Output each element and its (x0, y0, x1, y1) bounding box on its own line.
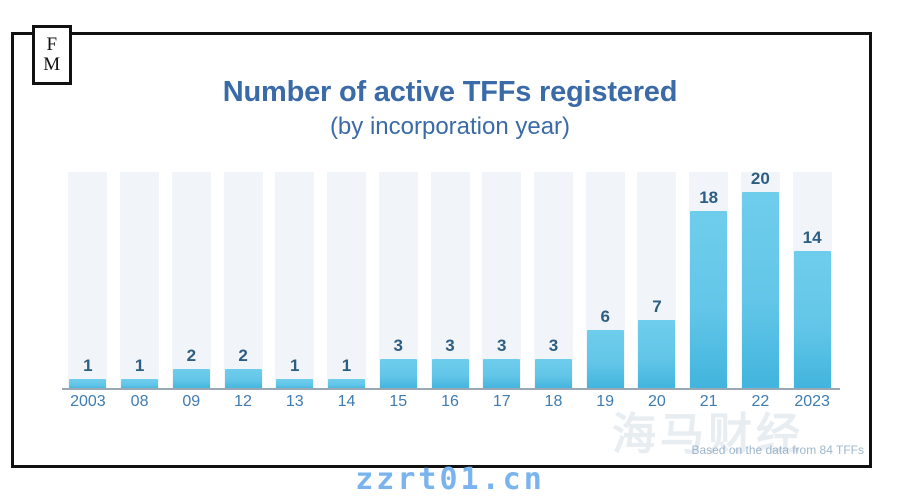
bar-19[interactable] (587, 330, 624, 389)
chart-subtitle: (by incorporation year) (0, 113, 900, 141)
bar-15[interactable] (380, 359, 417, 389)
bar-value-label: 3 (372, 336, 424, 356)
bar-value-label: 14 (786, 228, 838, 248)
x-axis-label: 09 (165, 393, 217, 411)
x-axis-label: 19 (579, 393, 631, 411)
bar-value-label: 1 (62, 356, 114, 376)
logo-letter-f: F (46, 35, 57, 55)
x-axis-label: 2023 (786, 393, 838, 411)
bar-value-label: 7 (631, 297, 683, 317)
x-axis-label: 13 (269, 393, 321, 411)
bar-value-label: 18 (683, 188, 735, 208)
bar-value-label: 20 (735, 169, 787, 189)
logo-letter-m: M (43, 55, 60, 75)
column-band (534, 172, 573, 389)
bar-value-label: 1 (321, 356, 373, 376)
bar-value-label: 2 (217, 346, 269, 366)
bar-21[interactable] (690, 211, 727, 389)
x-axis-label: 08 (114, 393, 166, 411)
bar-value-label: 6 (579, 307, 631, 327)
bar-09[interactable] (173, 369, 210, 389)
bar-17[interactable] (483, 359, 520, 389)
bar-value-label: 1 (269, 356, 321, 376)
column-band (379, 172, 418, 389)
chart-page: F M Number of active TFFs registered (by… (0, 0, 900, 499)
x-axis-label: 22 (735, 393, 787, 411)
x-axis-label: 18 (528, 393, 580, 411)
bar-value-label: 3 (528, 336, 580, 356)
bar-16[interactable] (432, 359, 469, 389)
x-axis-label: 14 (321, 393, 373, 411)
x-axis-label: 17 (476, 393, 528, 411)
column-band (431, 172, 470, 389)
bar-value-label: 3 (476, 336, 528, 356)
bar-18[interactable] (535, 359, 572, 389)
bar-value-label: 3 (424, 336, 476, 356)
x-axis-line (62, 388, 840, 390)
x-axis-label: 2003 (62, 393, 114, 411)
x-axis-label: 16 (424, 393, 476, 411)
x-axis-label: 20 (631, 393, 683, 411)
bar-value-label: 2 (165, 346, 217, 366)
chart-title: Number of active TFFs registered (0, 76, 900, 109)
bar-22[interactable] (742, 192, 779, 389)
bar-20[interactable] (638, 320, 675, 389)
x-axis-label: 21 (683, 393, 735, 411)
x-axis-label: 12 (217, 393, 269, 411)
x-axis-label: 15 (372, 393, 424, 411)
bar-value-label: 1 (114, 356, 166, 376)
bar-2023[interactable] (794, 251, 831, 389)
bar-12[interactable] (225, 369, 262, 389)
site-watermark: zzrt01.cn (0, 462, 900, 497)
column-band (482, 172, 521, 389)
